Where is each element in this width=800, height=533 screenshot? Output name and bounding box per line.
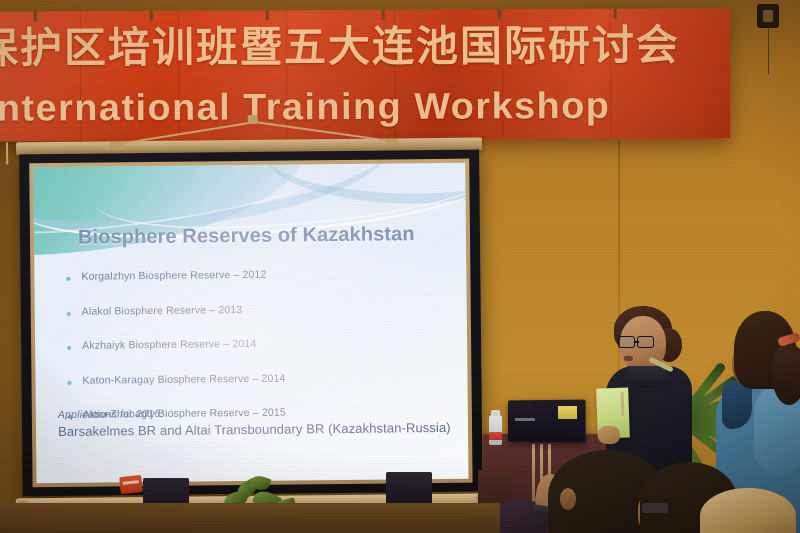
conference-room-photo: 保护区培训班暨五大连池国际研讨会 International Training …	[0, 0, 800, 533]
photo-vignette	[0, 0, 800, 533]
